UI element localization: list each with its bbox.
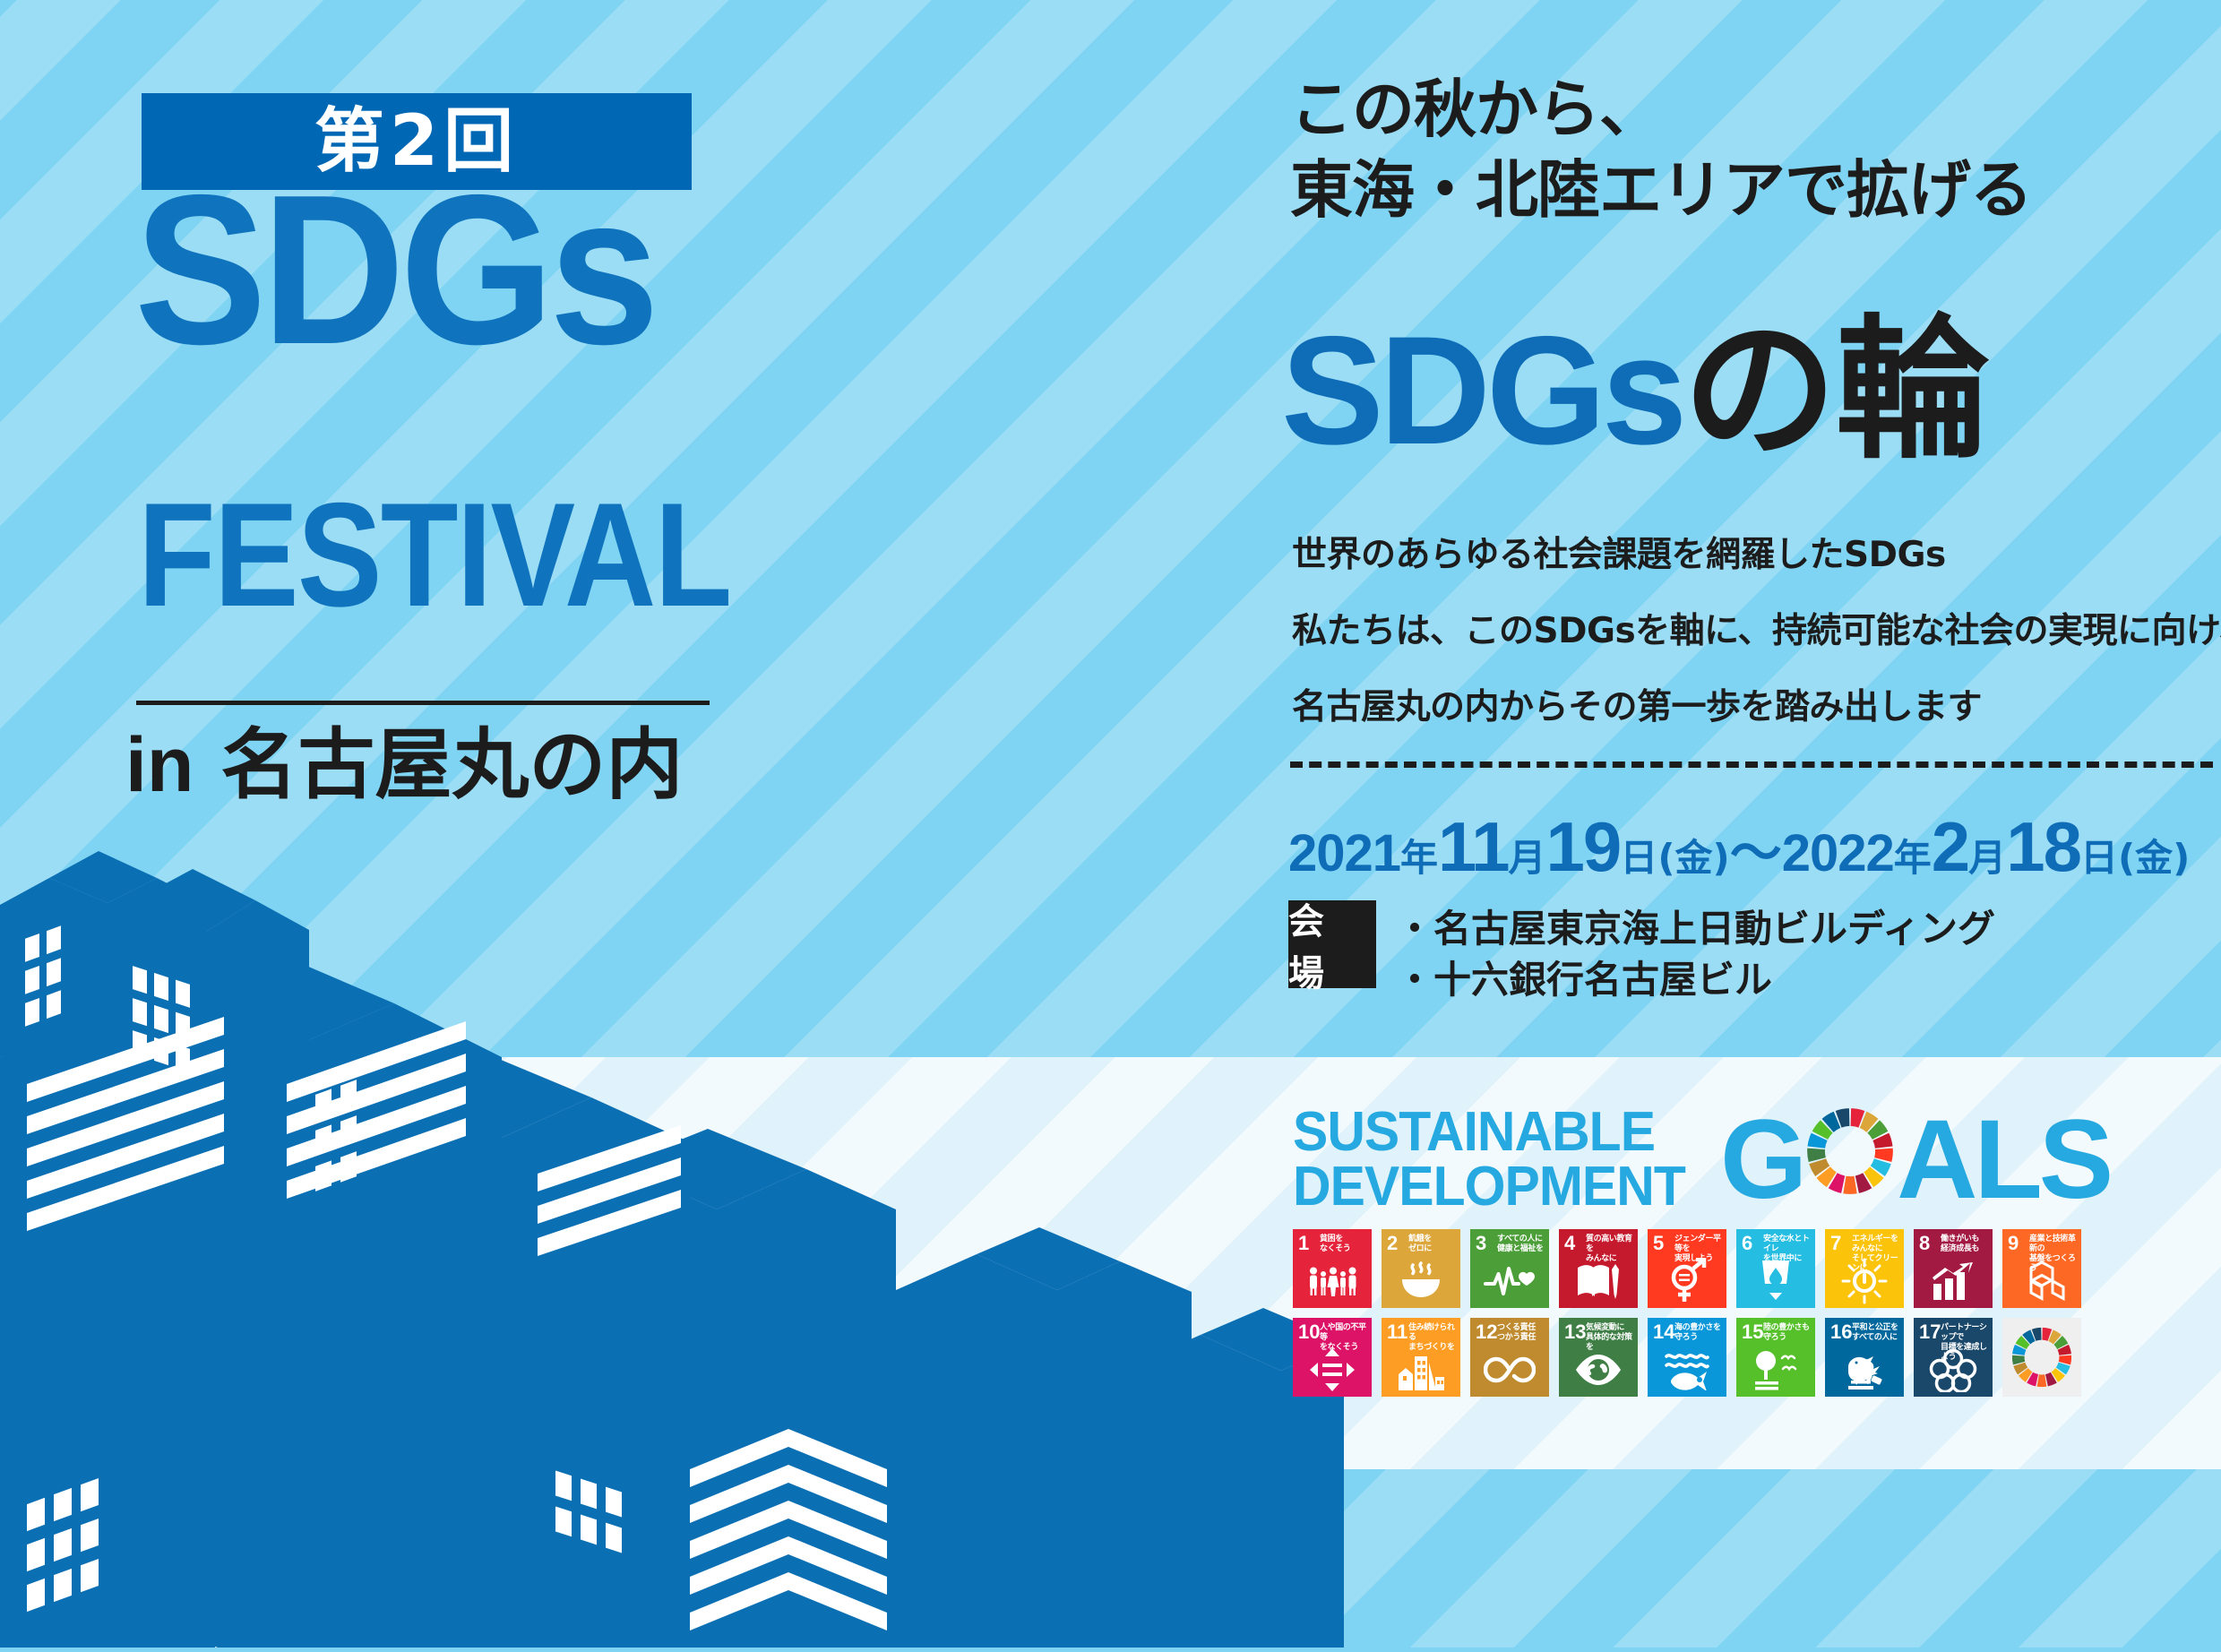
tree-birds-icon bbox=[1736, 1347, 1815, 1393]
sun-power-icon bbox=[1825, 1258, 1904, 1304]
sdg-goal-number: 15 bbox=[1742, 1322, 1763, 1342]
sdg-goal-tile-7[interactable]: 7エネルギーをみんなにそしてクリーンに bbox=[1825, 1229, 1904, 1308]
sdg-goal-number: 2 bbox=[1387, 1234, 1398, 1253]
date-year-start: 2021 bbox=[1288, 824, 1400, 882]
event-date-range: 2021年11月19日(金)〜2022年2月18日(金) bbox=[1288, 806, 2221, 888]
sdg-goal-tile-3[interactable]: 3すべての人に健康と福祉を bbox=[1470, 1229, 1549, 1308]
water-glass-icon bbox=[1736, 1258, 1815, 1304]
sdg-logo-line-1: SUSTAINABLE bbox=[1293, 1106, 1685, 1160]
sdg-goal-tile-9[interactable]: 9産業と技術革新の基盤をつくろう bbox=[2002, 1229, 2081, 1308]
sdg-goal-tile-15[interactable]: 15陸の豊かさも守ろう bbox=[1736, 1318, 1815, 1397]
right-info-block: この秋から、 東海・北陸エリアで拡げる SDGsの輪 世界のあらゆる社会課題を網… bbox=[1281, 0, 2221, 1057]
location-line: in 名古屋丸の内 bbox=[125, 721, 806, 810]
sdg-logo-text: SUSTAINABLE DEVELOPMENT bbox=[1293, 1106, 1685, 1215]
sdg-goal-tile-10[interactable]: 10人や国の不平等をなくそう bbox=[1293, 1318, 1372, 1397]
sdg-goal-number: 7 bbox=[1830, 1234, 1841, 1253]
venue-item-1: ・名古屋東京海上日動ビルディング bbox=[1396, 904, 1995, 955]
date-month-end: 2 bbox=[1932, 807, 1968, 886]
heartbeat-icon bbox=[1470, 1258, 1549, 1304]
date-month-unit-end: 月 bbox=[1968, 836, 2006, 880]
dashed-divider bbox=[1290, 761, 2213, 768]
sdg-goal-number: 6 bbox=[1742, 1234, 1752, 1253]
sdg-goal-label: 飢餓をゼロに bbox=[1408, 1235, 1458, 1254]
steaming-bowl-icon bbox=[1382, 1258, 1460, 1304]
sdg-goal-number: 9 bbox=[2008, 1234, 2019, 1253]
kicker-block: この秋から、 東海・北陸エリアで拡げる bbox=[1290, 70, 2221, 230]
venue-item-2: ・十六銀行名古屋ビル bbox=[1396, 955, 1995, 1006]
sdg-goal-tile-4[interactable]: 4質の高い教育をみんなに bbox=[1559, 1229, 1638, 1308]
infinity-icon bbox=[1470, 1347, 1549, 1393]
sdg-goals-word: G ALS bbox=[1720, 1104, 2110, 1216]
date-dow-start: (金) bbox=[1657, 836, 1729, 880]
kicker-line-1: この秋から、 bbox=[1290, 70, 2221, 151]
sdg-goal-label: 貧困をなくそう bbox=[1320, 1235, 1369, 1254]
sdg-goal-tile-13[interactable]: 13気候変動に具体的な対策を bbox=[1559, 1318, 1638, 1397]
date-day-end: 18 bbox=[2006, 807, 2080, 886]
goals-letters-als: ALS bbox=[1897, 1104, 2110, 1216]
sdgs-wordmark: SDGs bbox=[134, 179, 718, 363]
sdg-goal-number: 8 bbox=[1919, 1234, 1930, 1253]
open-book-pencil-icon bbox=[1559, 1258, 1638, 1304]
sdg-goal-number: 12 bbox=[1476, 1322, 1497, 1342]
sdg-goal-tile-14[interactable]: 14海の豊かさを守ろう bbox=[1648, 1318, 1726, 1397]
body-copy: 世界のあらゆる社会課題を網羅したSDGs 私たちは、このSDGsを軸に、持続可能… bbox=[1292, 538, 2221, 766]
sdg-goal-tile-11[interactable]: 11住み続けられるまちづくりを bbox=[1382, 1318, 1460, 1397]
sdg-goal-number: 10 bbox=[1298, 1322, 1320, 1342]
sdg-goal-number: 17 bbox=[1919, 1322, 1941, 1342]
sdg-goal-number: 16 bbox=[1830, 1322, 1852, 1342]
sdg-color-wheel-tile bbox=[2002, 1318, 2081, 1397]
title-divider-rule bbox=[136, 701, 710, 705]
date-day-start: 19 bbox=[1546, 807, 1621, 886]
globe-eye-icon bbox=[1559, 1347, 1638, 1393]
city-skyline-illustration bbox=[0, 788, 1344, 1648]
sdg-goal-tile-1[interactable]: 1貧困をなくそう bbox=[1293, 1229, 1372, 1308]
sdg-goal-tile-8[interactable]: 8働きがいも経済成長も bbox=[1914, 1229, 1993, 1308]
sdg-goal-number: 13 bbox=[1564, 1322, 1586, 1342]
sdg-goal-number: 1 bbox=[1298, 1234, 1309, 1253]
gender-equality-icon bbox=[1648, 1258, 1726, 1304]
festival-wordmark: FESTIVAL bbox=[138, 488, 724, 622]
sdg-goal-label: 働きがいも経済成長も bbox=[1941, 1235, 1990, 1254]
date-month-start: 11 bbox=[1438, 807, 1508, 886]
left-title-block: 第2回 SDGs FESTIVAL in 名古屋丸の内 bbox=[0, 0, 806, 860]
sdg-goal-label: つくる責任つかう責任 bbox=[1497, 1323, 1546, 1343]
sdg-goal-label: 海の豊かさを守ろう bbox=[1674, 1323, 1724, 1343]
headline-no-wa: の輪 bbox=[1683, 300, 1987, 480]
date-range-tilde: 〜 bbox=[1730, 824, 1782, 882]
date-month-unit-start: 月 bbox=[1509, 836, 1546, 880]
body-line-3: 名古屋丸の内からその第一歩を踏み出します bbox=[1292, 690, 2221, 725]
venue-section: 会 場 ・名古屋東京海上日動ビルディング ・十六銀行名古屋ビル bbox=[1288, 900, 1995, 1005]
date-dow-end: (金) bbox=[2118, 836, 2190, 880]
venue-label-badge: 会 場 bbox=[1288, 900, 1376, 988]
date-year-end: 2022 bbox=[1782, 824, 1894, 882]
kicker-line-2: 東海・北陸エリアで拡げる bbox=[1290, 151, 2221, 231]
venue-list: ・名古屋東京海上日動ビルディング ・十六銀行名古屋ビル bbox=[1396, 900, 1995, 1005]
sdg-goal-number: 5 bbox=[1653, 1234, 1664, 1253]
linked-circles-icon bbox=[1914, 1347, 1993, 1393]
sdg-logo-lockup: SUSTAINABLE DEVELOPMENT G ALS bbox=[1293, 1104, 2110, 1216]
people-family-icon bbox=[1293, 1258, 1372, 1304]
growth-chart-icon bbox=[1914, 1258, 1993, 1304]
headline: SDGsの輪 bbox=[1281, 314, 2221, 468]
sdg-goal-tile-5[interactable]: 5ジェンダー平等を実現しよう bbox=[1648, 1229, 1726, 1308]
date-year-unit-end: 年 bbox=[1894, 836, 1932, 880]
sdg-goal-tile-12[interactable]: 12つくる責任つかう責任 bbox=[1470, 1318, 1549, 1397]
sdg-goal-number: 11 bbox=[1387, 1322, 1407, 1342]
location-prefix: in bbox=[125, 722, 194, 808]
sdg-goal-label: すべての人に健康と福祉を bbox=[1497, 1235, 1546, 1254]
sdg-goal-label: 陸の豊かさも守ろう bbox=[1763, 1323, 1812, 1343]
sdg-goal-label: 平和と公正をすべての人に bbox=[1852, 1323, 1901, 1343]
dove-gavel-icon bbox=[1825, 1347, 1904, 1393]
goals-letter-g: G bbox=[1720, 1104, 1803, 1216]
location-name: 名古屋丸の内 bbox=[220, 720, 683, 810]
body-line-1: 世界のあらゆる社会課題を網羅したSDGs bbox=[1292, 538, 2221, 572]
date-year-unit-start: 年 bbox=[1400, 836, 1438, 880]
sdg-logo-line-2: DEVELOPMENT bbox=[1293, 1160, 1685, 1215]
sdg-goal-number: 14 bbox=[1653, 1322, 1674, 1342]
sdg-goal-number: 3 bbox=[1476, 1234, 1486, 1253]
sdg-goals-grid: 1貧困をなくそう2飢餓をゼロに3すべての人に健康と福祉を4質の高い教育をみんなに… bbox=[1293, 1229, 2081, 1397]
equal-arrows-icon bbox=[1293, 1347, 1372, 1393]
date-day-unit-start: 日 bbox=[1620, 836, 1657, 880]
cubes-icon bbox=[2002, 1258, 2081, 1304]
fish-waves-icon bbox=[1648, 1347, 1726, 1393]
body-line-2: 私たちは、このSDGsを軸に、持続可能な社会の実現に向け、 bbox=[1292, 614, 2221, 649]
city-buildings-icon bbox=[1382, 1347, 1460, 1393]
sdg-goal-tile-16[interactable]: 16平和と公正をすべての人に bbox=[1825, 1318, 1904, 1397]
sdg-goal-tile-6[interactable]: 6安全な水とトイレを世界中に bbox=[1736, 1229, 1815, 1308]
sdg-goal-tile-2[interactable]: 2飢餓をゼロに bbox=[1382, 1229, 1460, 1308]
sdg-goal-number: 4 bbox=[1564, 1234, 1575, 1253]
sdg-color-wheel-icon bbox=[1803, 1104, 1897, 1216]
headline-sdgs: SDGs bbox=[1281, 305, 1683, 477]
sdg-goal-tile-17[interactable]: 17パートナーシップで目標を達成しよう bbox=[1914, 1318, 1993, 1397]
date-day-unit-end: 日 bbox=[2080, 836, 2118, 880]
